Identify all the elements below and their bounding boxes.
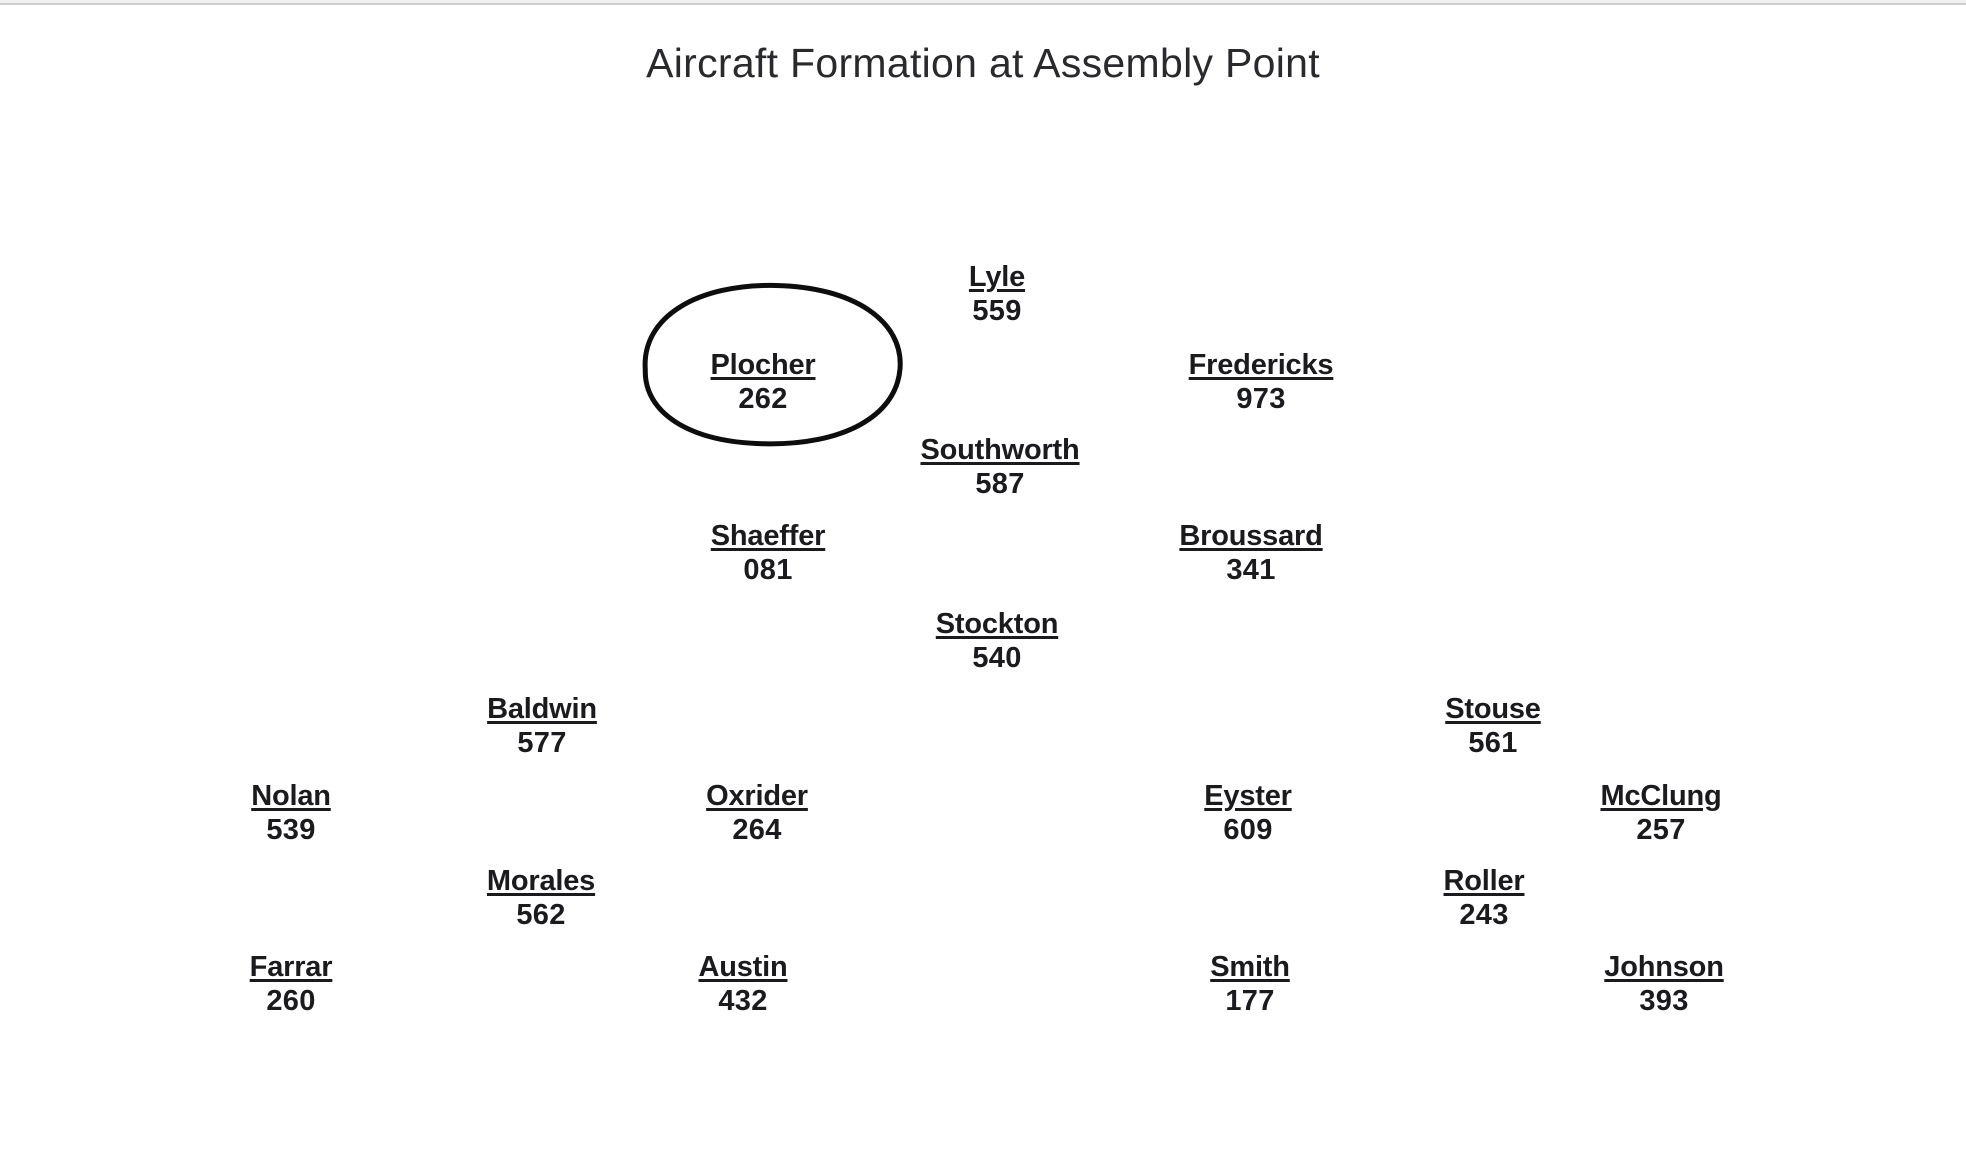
aircraft-number: 587 bbox=[920, 466, 1079, 504]
aircraft-callsign: Lyle bbox=[969, 262, 1025, 293]
aircraft-node[interactable]: Smith177 bbox=[1210, 952, 1290, 1020]
aircraft-callsign: Stockton bbox=[936, 609, 1058, 640]
aircraft-callsign: Farrar bbox=[250, 952, 333, 983]
aircraft-number: 341 bbox=[1179, 552, 1322, 590]
aircraft-callsign: Plocher bbox=[711, 350, 816, 381]
aircraft-number: 262 bbox=[711, 381, 816, 419]
aircraft-callsign: Broussard bbox=[1179, 521, 1322, 552]
aircraft-callsign: Baldwin bbox=[487, 694, 597, 725]
aircraft-node[interactable]: Roller243 bbox=[1444, 866, 1525, 934]
aircraft-node[interactable]: Stouse561 bbox=[1445, 694, 1541, 762]
aircraft-number: 177 bbox=[1210, 983, 1290, 1021]
aircraft-callsign: Smith bbox=[1210, 952, 1290, 983]
aircraft-number: 264 bbox=[706, 812, 808, 850]
aircraft-callsign: Oxrider bbox=[706, 781, 808, 812]
aircraft-node[interactable]: Farrar260 bbox=[250, 952, 333, 1020]
aircraft-callsign: Austin bbox=[698, 952, 787, 983]
aircraft-node[interactable]: Southworth587 bbox=[920, 435, 1079, 503]
formation-canvas: Lyle559Plocher262Fredericks973Southworth… bbox=[0, 0, 1966, 1172]
aircraft-callsign: Southworth bbox=[920, 435, 1079, 466]
aircraft-number: 539 bbox=[251, 812, 331, 850]
aircraft-callsign: Shaeffer bbox=[711, 521, 825, 552]
aircraft-callsign: Johnson bbox=[1604, 952, 1723, 983]
aircraft-number: 559 bbox=[969, 293, 1025, 331]
aircraft-callsign: Eyster bbox=[1204, 781, 1291, 812]
aircraft-node[interactable]: Johnson393 bbox=[1604, 952, 1723, 1020]
aircraft-number: 561 bbox=[1445, 725, 1541, 763]
aircraft-callsign: Morales bbox=[487, 866, 595, 897]
aircraft-node[interactable]: Shaeffer081 bbox=[711, 521, 825, 589]
aircraft-node[interactable]: Nolan539 bbox=[251, 781, 331, 849]
aircraft-node[interactable]: Fredericks973 bbox=[1189, 350, 1334, 418]
aircraft-callsign: Nolan bbox=[251, 781, 331, 812]
aircraft-node[interactable]: Eyster609 bbox=[1204, 781, 1291, 849]
aircraft-number: 243 bbox=[1444, 897, 1525, 935]
aircraft-node[interactable]: Broussard341 bbox=[1179, 521, 1322, 589]
aircraft-node[interactable]: Morales562 bbox=[487, 866, 595, 934]
aircraft-node[interactable]: Austin432 bbox=[698, 952, 787, 1020]
aircraft-number: 562 bbox=[487, 897, 595, 935]
aircraft-callsign: McClung bbox=[1600, 781, 1721, 812]
aircraft-node[interactable]: Baldwin577 bbox=[487, 694, 597, 762]
aircraft-node[interactable]: Lyle559 bbox=[969, 262, 1025, 330]
aircraft-node[interactable]: Stockton540 bbox=[936, 609, 1058, 677]
aircraft-callsign: Stouse bbox=[1445, 694, 1541, 725]
aircraft-node[interactable]: McClung257 bbox=[1600, 781, 1721, 849]
aircraft-number: 393 bbox=[1604, 983, 1723, 1021]
aircraft-callsign: Roller bbox=[1444, 866, 1525, 897]
aircraft-formation-diagram: Aircraft Formation at Assembly Point Lyl… bbox=[0, 0, 1966, 1172]
aircraft-callsign: Fredericks bbox=[1189, 350, 1334, 381]
aircraft-number: 540 bbox=[936, 640, 1058, 678]
aircraft-number: 432 bbox=[698, 983, 787, 1021]
aircraft-number: 973 bbox=[1189, 381, 1334, 419]
aircraft-node[interactable]: Oxrider264 bbox=[706, 781, 808, 849]
aircraft-number: 081 bbox=[711, 552, 825, 590]
aircraft-node[interactable]: Plocher262 bbox=[711, 350, 816, 418]
aircraft-number: 257 bbox=[1600, 812, 1721, 850]
aircraft-number: 577 bbox=[487, 725, 597, 763]
aircraft-number: 609 bbox=[1204, 812, 1291, 850]
aircraft-number: 260 bbox=[250, 983, 333, 1021]
